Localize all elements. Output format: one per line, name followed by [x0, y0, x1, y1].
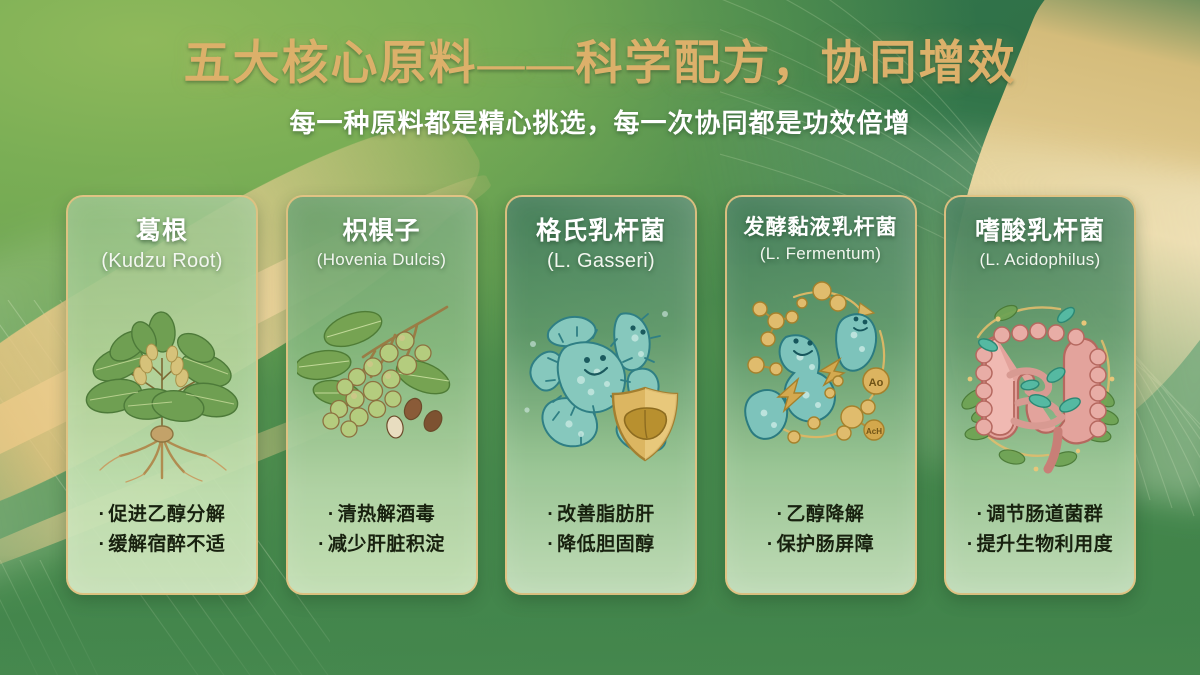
- list-item: ·降低胆固醇: [507, 530, 695, 559]
- list-item: ·乙醇降解: [727, 500, 915, 529]
- bullet-dot-icon: ·: [547, 504, 554, 525]
- ingredient-name-latin: (L. Acidophilus): [952, 250, 1128, 270]
- bacteria-liver-shield-illustration: [507, 279, 695, 489]
- bullet-dot-icon: ·: [99, 534, 106, 555]
- benefit-text: 保护肠屏障: [777, 534, 875, 555]
- poster-header: 五大核心原料——科学配方，协同增效 每一种原料都是精心挑选，每一次协同都是功效倍…: [0, 38, 1200, 140]
- card-header: 枳椇子 (Hovenia Dulcis): [288, 197, 476, 270]
- benefit-list: ·改善脂肪肝 ·降低胆固醇: [507, 500, 695, 559]
- card-header: 格氏乳杆菌 (L. Gasseri): [507, 197, 695, 273]
- benefit-list: ·促进乙醇分解 ·缓解宿醉不适: [68, 500, 256, 559]
- intestine-microbiome-illustration: [946, 276, 1134, 486]
- benefit-text: 乙醇降解: [786, 504, 864, 525]
- bullet-dot-icon: ·: [318, 534, 325, 555]
- ingredient-card-hovenia[interactable]: 枳椇子 (Hovenia Dulcis): [286, 195, 478, 595]
- benefit-text: 降低胆固醇: [557, 534, 655, 555]
- ingredient-card-kudzu[interactable]: 葛根 (Kudzu Root): [66, 195, 258, 595]
- bacteria-molecule-cycle-illustration: Ao AcH: [727, 270, 915, 480]
- ingredient-name-cn: 嗜酸乳杆菌: [952, 211, 1128, 247]
- ingredient-name-cn: 发酵黏液乳杆菌: [733, 211, 909, 241]
- ingredient-name-latin: (Kudzu Root): [74, 250, 250, 273]
- benefit-list: ·清热解酒毒 ·减少肝脏积淀: [288, 500, 476, 559]
- kudzu-plant-illustration: [68, 279, 256, 489]
- ingredient-card-gasseri[interactable]: 格氏乳杆菌 (L. Gasseri): [505, 195, 697, 595]
- list-item: ·改善脂肪肝: [507, 500, 695, 529]
- benefit-text: 改善脂肪肝: [557, 504, 655, 525]
- benefit-text: 缓解宿醉不适: [108, 534, 225, 555]
- bullet-dot-icon: ·: [977, 504, 984, 525]
- card-header: 葛根 (Kudzu Root): [68, 197, 256, 273]
- page-subtitle: 每一种原料都是精心挑选，每一次协同都是功效倍增: [0, 103, 1200, 140]
- fermentum-badge-ach: AcH: [865, 427, 881, 436]
- ingredient-name-latin: (L. Fermentum): [733, 244, 909, 264]
- card-header: 嗜酸乳杆菌 (L. Acidophilus): [946, 197, 1134, 270]
- bullet-dot-icon: ·: [99, 504, 106, 525]
- list-item: ·促进乙醇分解: [68, 500, 256, 529]
- list-item: ·缓解宿醉不适: [68, 530, 256, 559]
- ingredient-card-acidophilus[interactable]: 嗜酸乳杆菌 (L. Acidophilus): [944, 195, 1136, 595]
- benefit-text: 调节肠道菌群: [986, 504, 1103, 525]
- list-item: ·减少肝脏积淀: [288, 530, 476, 559]
- benefit-text: 减少肝脏积淀: [328, 534, 445, 555]
- ingredient-name-latin: (L. Gasseri): [513, 250, 689, 273]
- bullet-dot-icon: ·: [777, 504, 784, 525]
- ingredient-card-fermentum[interactable]: 发酵黏液乳杆菌 (L. Fermentum): [725, 195, 917, 595]
- ingredient-name-cn: 格氏乳杆菌: [513, 211, 689, 247]
- benefit-text: 提升生物利用度: [977, 534, 1114, 555]
- list-item: ·保护肠屏障: [727, 530, 915, 559]
- bullet-dot-icon: ·: [767, 534, 774, 555]
- ingredient-name-cn: 枳椇子: [294, 211, 470, 247]
- list-item: ·调节肠道菌群: [946, 500, 1134, 529]
- benefit-text: 促进乙醇分解: [108, 504, 225, 525]
- list-item: ·清热解酒毒: [288, 500, 476, 529]
- ingredient-name-cn: 葛根: [74, 211, 250, 247]
- ingredient-name-latin: (Hovenia Dulcis): [294, 250, 470, 270]
- benefit-list: ·乙醇降解 ·保护肠屏障: [727, 500, 915, 559]
- page-title: 五大核心原料——科学配方，协同增效: [0, 38, 1200, 91]
- poster-canvas: 五大核心原料——科学配方，协同增效 每一种原料都是精心挑选，每一次协同都是功效倍…: [0, 0, 1200, 675]
- fermentum-badge-ao: Ao: [868, 377, 883, 389]
- benefit-list: ·调节肠道菌群 ·提升生物利用度: [946, 500, 1134, 559]
- list-item: ·提升生物利用度: [946, 530, 1134, 559]
- hovenia-berries-illustration: [288, 276, 476, 486]
- bullet-dot-icon: ·: [967, 534, 974, 555]
- bullet-dot-icon: ·: [547, 534, 554, 555]
- bullet-dot-icon: ·: [328, 504, 335, 525]
- ingredient-card-row: 葛根 (Kudzu Root): [66, 195, 1136, 591]
- card-header: 发酵黏液乳杆菌 (L. Fermentum): [727, 197, 915, 264]
- benefit-text: 清热解酒毒: [338, 504, 436, 525]
